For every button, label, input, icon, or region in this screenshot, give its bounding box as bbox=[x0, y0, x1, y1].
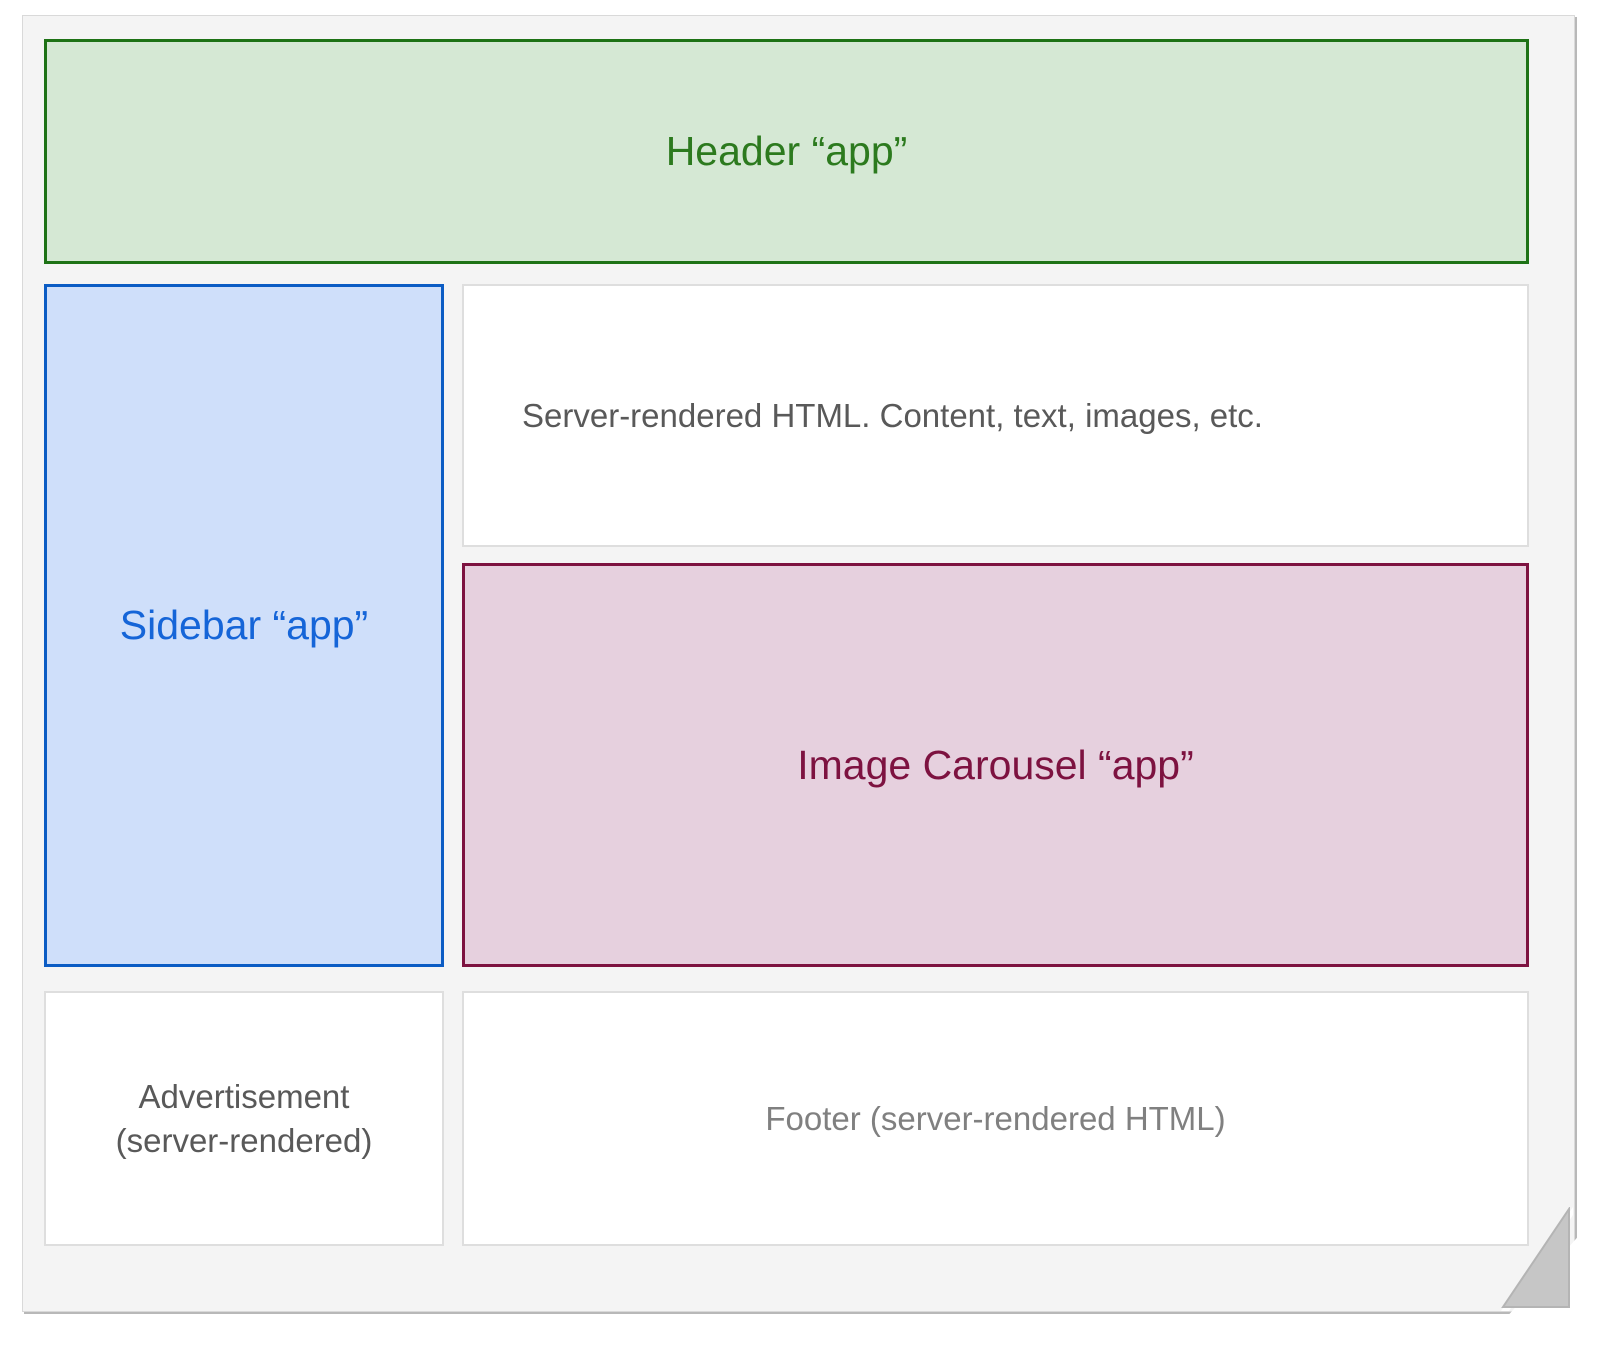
region-footer-label: Footer (server-rendered HTML) bbox=[765, 1100, 1225, 1138]
region-content[interactable]: Server-rendered HTML. Content, text, ima… bbox=[462, 284, 1529, 547]
diagram-canvas: Header “app” Sidebar “app” Server-render… bbox=[0, 0, 1600, 1355]
region-footer[interactable]: Footer (server-rendered HTML) bbox=[462, 991, 1529, 1246]
region-image-carousel[interactable]: Image Carousel “app” bbox=[462, 563, 1529, 967]
region-advertisement-label-line1: Advertisement bbox=[139, 1075, 350, 1119]
region-image-carousel-label: Image Carousel “app” bbox=[797, 742, 1194, 789]
region-header[interactable]: Header “app” bbox=[44, 39, 1529, 264]
region-advertisement-label-line2: (server-rendered) bbox=[116, 1119, 373, 1163]
region-advertisement[interactable]: Advertisement (server-rendered) bbox=[44, 991, 444, 1246]
region-sidebar[interactable]: Sidebar “app” bbox=[44, 284, 444, 967]
region-sidebar-label: Sidebar “app” bbox=[120, 602, 368, 649]
page-frame: Header “app” Sidebar “app” Server-render… bbox=[22, 15, 1575, 1312]
region-header-label: Header “app” bbox=[666, 128, 908, 175]
region-content-label: Server-rendered HTML. Content, text, ima… bbox=[522, 397, 1263, 435]
